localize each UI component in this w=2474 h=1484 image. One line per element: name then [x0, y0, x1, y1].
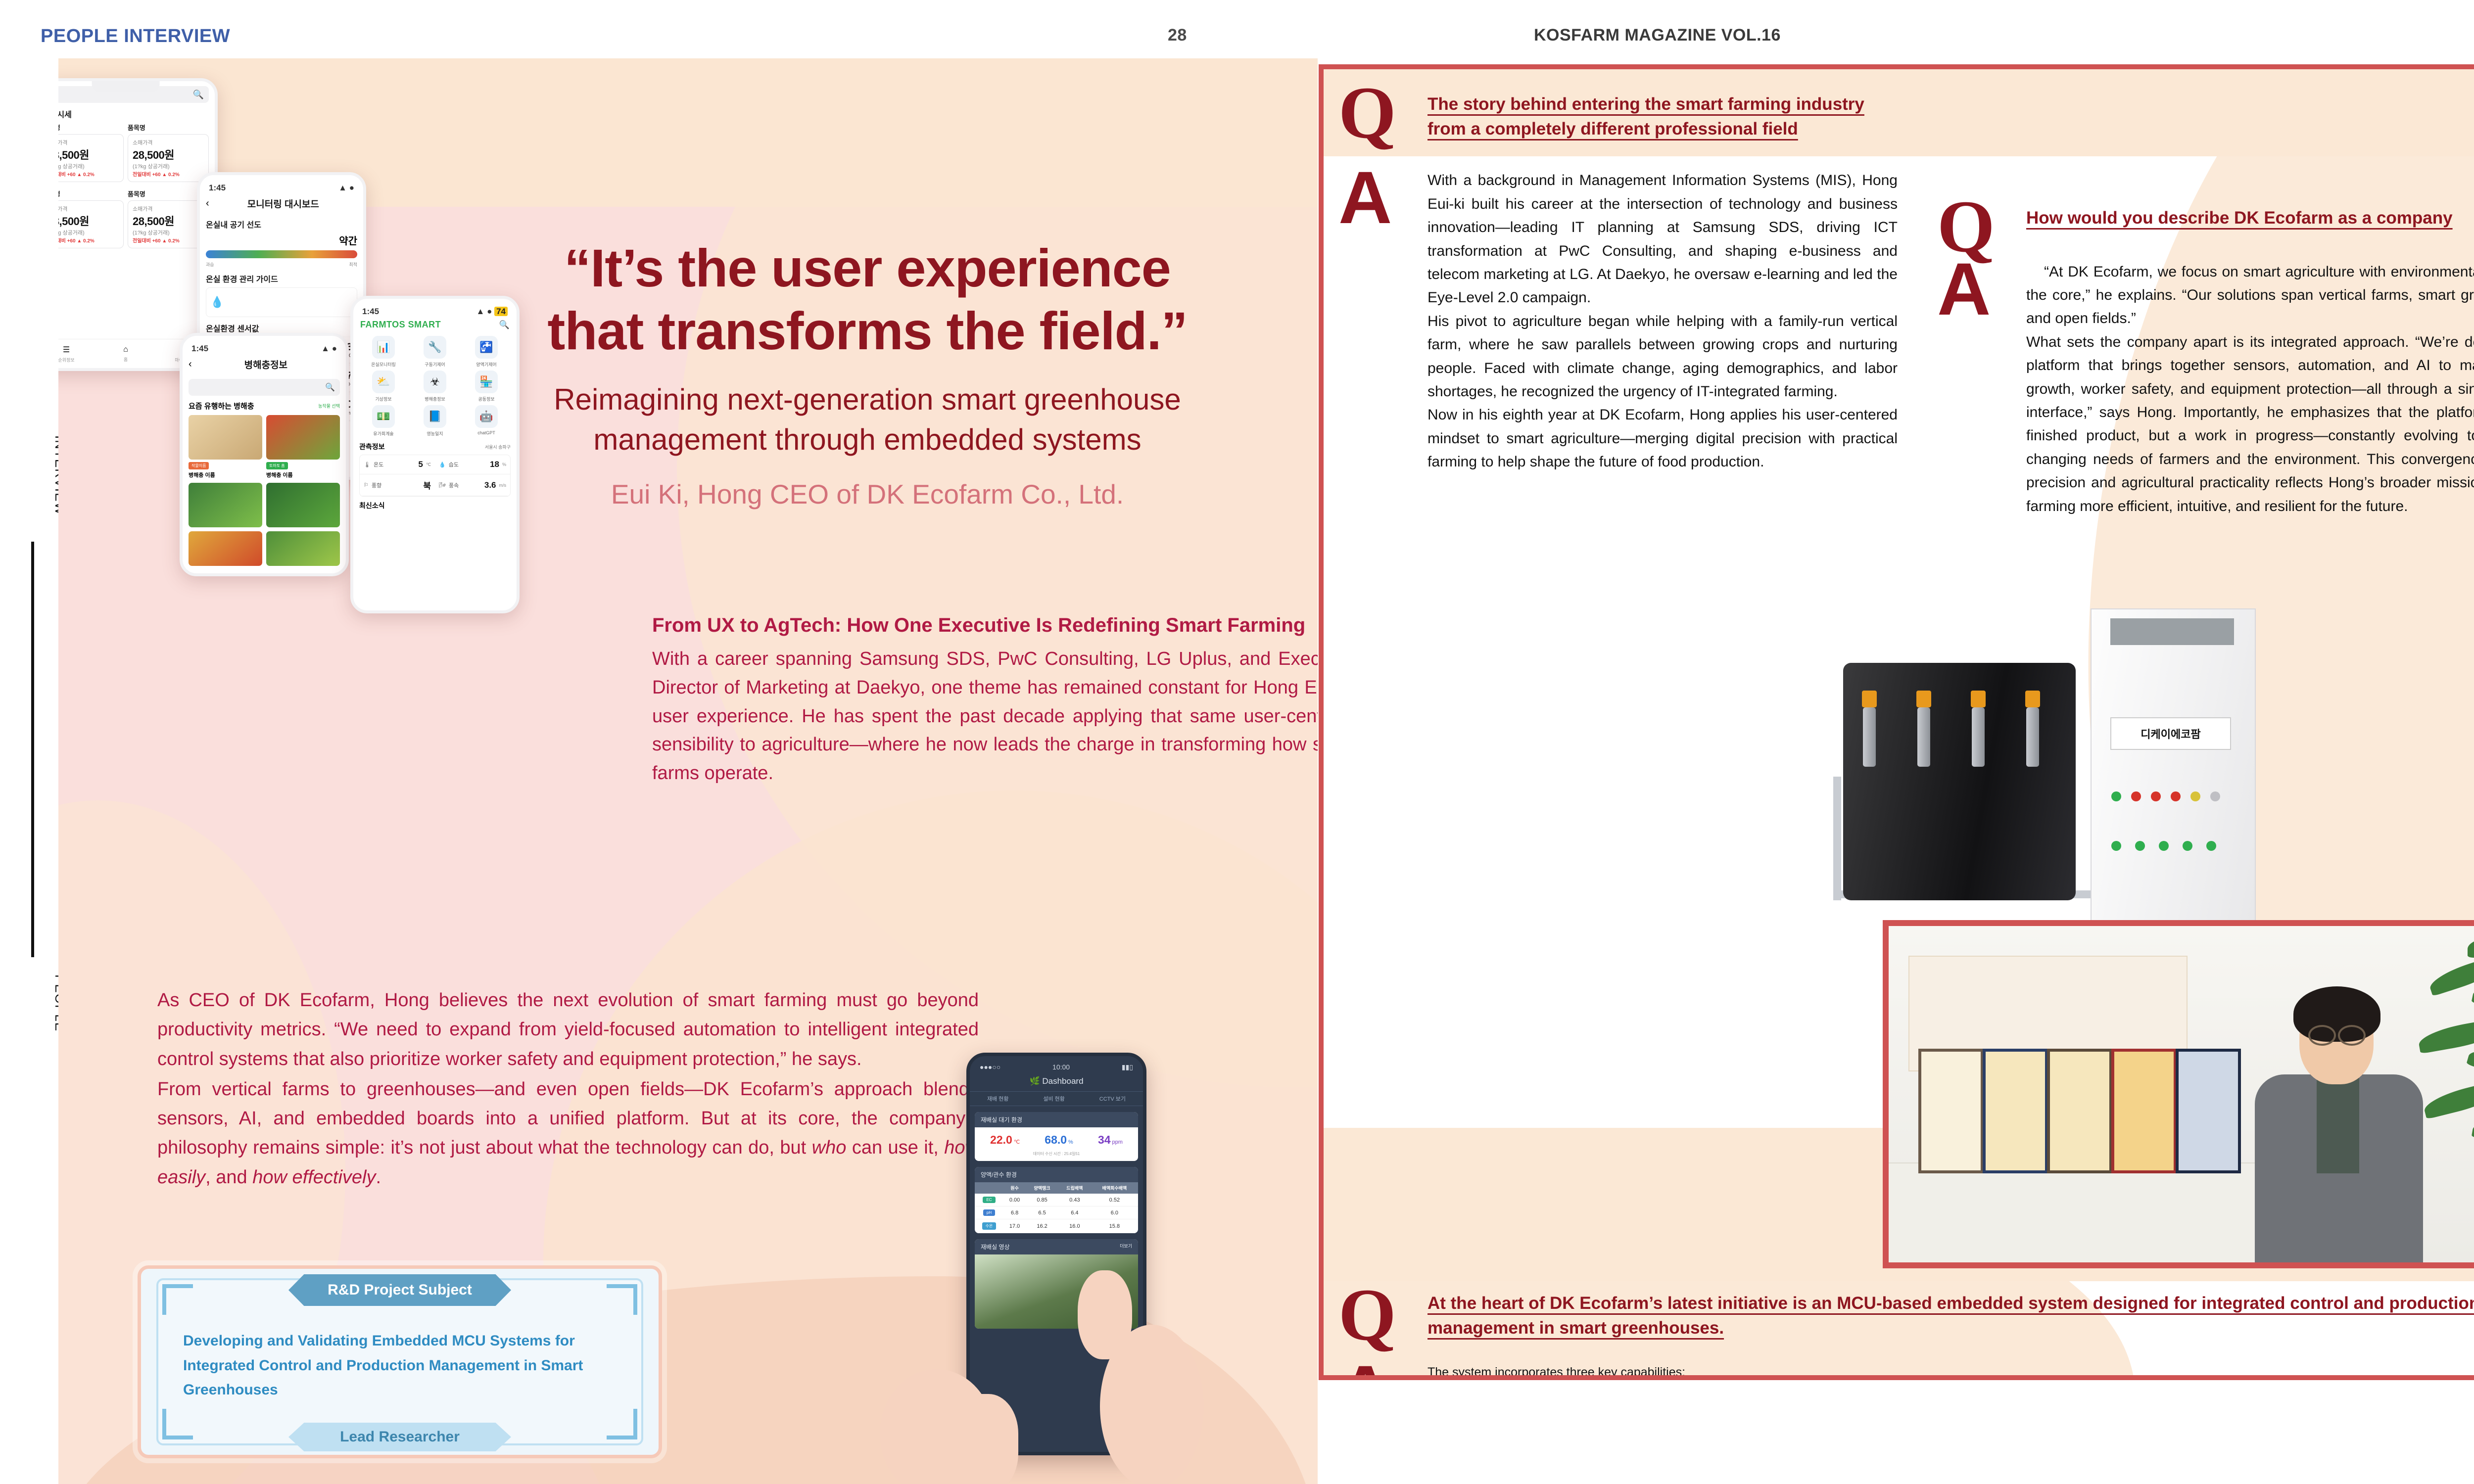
nutrient-table: 원수 양액탱크 드립배액 배액회수배액 EC 0.00 0.85 0.43 0.…	[975, 1182, 1138, 1233]
price-value: 28,500원	[58, 213, 119, 229]
crop-filter[interactable]: 농작물 선택	[318, 403, 340, 409]
phone-status-bar: 1:45 ▲ ●	[200, 175, 363, 194]
phone-mock-pest: 1:45 ▲ ● ‹ 병해충정보 🔍 요즘 유행하는 병해충 농작물 선택 작물…	[180, 333, 349, 576]
frame-post	[1833, 777, 1841, 900]
headline-line-2: that transforms the field.”	[472, 299, 1263, 362]
rnd-project-card: R&D Project Subject Developing and Valid…	[138, 1265, 662, 1458]
phone-mock-auction: 🔍 경매시세 품목명 소매가격 28,500원 (1?kg 상공거래) 전일대비…	[58, 78, 218, 371]
panel-header: 재배실 영상 더보기	[975, 1239, 1138, 1254]
plant-leaf	[2471, 982, 2474, 1019]
menu-item-journal[interactable]: 📘영농일지	[411, 405, 459, 437]
magazine-title: KOSFARM MAGAZINE VOL.16	[1534, 26, 1781, 45]
pest-photo[interactable]	[189, 483, 262, 527]
pest-photo[interactable]	[266, 531, 340, 566]
screen-title: 경매시세	[58, 108, 209, 120]
answer-paragraph: What sets the company apart is its integ…	[2026, 330, 2474, 518]
crop-badge: 작물이름	[189, 462, 209, 469]
a-letter: A	[1937, 260, 1991, 318]
pest-item[interactable]: 토마토 흠 병해충 이름	[266, 415, 340, 479]
price-delta: 전일대비 +60 ▲ 0.2%	[58, 170, 119, 178]
status-time: 1:45	[191, 344, 208, 354]
question-text-2: How would you describe DK Ecofarm as a c…	[2026, 198, 2474, 231]
price-delta: 전일대비 +60 ▲ 0.2%	[58, 236, 119, 244]
more-link[interactable]: 더보기	[1120, 1243, 1132, 1251]
pest-image-row-3	[189, 531, 340, 566]
led-indicator	[2190, 791, 2200, 801]
finger-right	[1078, 1270, 1132, 1359]
status-icons: ▲ ●	[338, 183, 354, 193]
leaf-icon: 🌿	[1029, 1076, 1040, 1086]
air-quality-gauge	[206, 250, 357, 258]
battery-icon: ▮▮▯	[1122, 1063, 1133, 1071]
answer-paragraph: Now in his eighth year at DK Ecofarm, Ho…	[1427, 403, 1898, 473]
price-value: 28,500원	[133, 146, 204, 162]
plant-leaf	[2472, 1117, 2474, 1150]
tab-cultivation[interactable]: 재배 현황	[987, 1095, 1009, 1103]
menu-item-monitoring[interactable]: 📊온실모니터링	[359, 336, 408, 368]
menu-item-pest[interactable]: ☣병해충정보	[411, 371, 459, 402]
led-indicator	[2111, 791, 2121, 801]
table-header-row: 원수 양액탱크 드립배액 배액회수배액	[975, 1182, 1138, 1194]
wind-direction-icon: ⚐	[364, 482, 369, 488]
award-trophy	[2176, 1049, 2241, 1173]
q-letter: Q	[1338, 84, 1396, 142]
rail-label-interview: INTERVIEW	[0, 435, 67, 515]
home-icon: ⌂	[123, 345, 128, 354]
qa-block-1: Q The story behind entering the smart fa…	[1338, 84, 1898, 473]
price-card[interactable]: 소매가격 28,500원 (1?kg 상공거래) 전일대비 +60 ▲ 0.2%	[128, 134, 209, 182]
price-caption: 소매가격	[133, 205, 204, 213]
q-letter: Q	[1338, 1286, 1396, 1344]
monitor-icon: 📊	[372, 336, 395, 359]
guide-card[interactable]: 💧	[206, 287, 357, 317]
running-head-left: PEOPLE INTERVIEW	[41, 26, 230, 47]
metric-temperature: 22.0℃	[990, 1133, 1020, 1147]
table-row: 수온 17.0 16.2 16.0 15.8	[975, 1219, 1138, 1233]
corner-bracket-tr	[607, 1284, 637, 1315]
led-indicator	[2159, 841, 2169, 851]
metric-co2: 34ppm	[1098, 1133, 1123, 1147]
rnd-chip-lead-researcher: Lead Researcher	[288, 1423, 511, 1451]
pest-photo	[266, 415, 340, 460]
pest-image-row-2	[189, 483, 340, 527]
rnd-subject-text: Developing and Validating Embedded MCU S…	[183, 1329, 632, 1402]
menu-item-actuator[interactable]: 🔧구동기제어	[411, 336, 459, 368]
cabinet-display	[2110, 618, 2234, 645]
cabinet-nameplate: 디케이에코팜	[2110, 717, 2231, 750]
price-unit: (1?kg 상공거래)	[133, 162, 204, 170]
price-value: 28,500원	[58, 146, 119, 162]
a-letter: A	[1338, 1363, 1392, 1380]
price-caption: 소매가격	[133, 139, 204, 146]
price-group: 품목명 소매가격 28,500원 (1?kg 상공거래) 전일대비 +60 ▲ …	[58, 123, 124, 182]
pest-photo	[189, 415, 262, 460]
status-time: 1:45	[209, 183, 226, 193]
row-tag: EC	[983, 1197, 995, 1203]
deck-body: With a career spanning Samsung SDS, PwC …	[652, 645, 1318, 788]
pest-photo[interactable]	[266, 483, 340, 527]
ceo-portrait-photo	[1883, 920, 2474, 1268]
question-text-3: At the heart of DK Ecofarm’s latest init…	[1427, 1286, 2474, 1340]
status-time: 10:00	[1052, 1063, 1070, 1071]
price-caption: 소매가격	[58, 139, 119, 146]
tab-ranking[interactable]: ☰순위정보	[58, 339, 96, 368]
lower-paragraph-2: From vertical farms to greenhouses—and e…	[157, 1075, 979, 1192]
row-tag: 수온	[982, 1222, 997, 1230]
weather-icon: ⛅	[372, 371, 395, 393]
person-shirt	[2317, 1074, 2359, 1173]
eyeglasses-left	[2308, 1025, 2336, 1046]
subheadline-line-1: Reimagining next-generation smart greenh…	[472, 379, 1263, 419]
corner-bracket-br	[607, 1409, 637, 1439]
subheadline-line-2: management through embedded systems	[472, 419, 1263, 460]
deck-title: From UX to AgTech: How One Executive Is …	[652, 612, 1318, 638]
section-trending-pests: 요즘 유행하는 병해충	[189, 401, 254, 411]
price-unit: (1?kg 상공거래)	[133, 229, 204, 236]
tab-home[interactable]: ⌂홈	[96, 339, 155, 368]
section-observation: 관측정보	[359, 442, 385, 452]
panel-air-environment: 재배실 대기 환경 22.0℃ 68.0% 34ppm 데이터 수신 시간 : …	[975, 1112, 1138, 1161]
pest-item[interactable]: 작물이름 병해충 이름	[189, 415, 262, 479]
price-delta: 전일대비 +60 ▲ 0.2%	[133, 236, 204, 244]
price-delta: 전일대비 +60 ▲ 0.2%	[133, 170, 204, 178]
table-row: EC 0.00 0.85 0.43 0.52	[975, 1194, 1138, 1206]
gauge-value: 약간	[206, 233, 357, 247]
screen-title: 모니터링 대시보드	[209, 194, 357, 213]
rail-label-people: PEOPLE	[0, 974, 67, 1032]
menu-item-accounting[interactable]: 💵유가회계술	[359, 405, 408, 437]
lower-body-copy: As CEO of DK Ecofarm, Hong believes the …	[157, 986, 979, 1193]
price-group: 품목명 소매가격 28,500원 (1?kg 상공거래) 전일대비 +60 ▲ …	[58, 186, 124, 248]
item-name: 품목명	[58, 189, 124, 198]
valve-cap-2	[1916, 691, 1931, 707]
pest-name: 병해충 이름	[189, 471, 262, 479]
office-plant	[2408, 936, 2474, 1252]
screen-title: 병해충정보	[192, 355, 340, 374]
headline-block: “It’s the user experience that transform…	[472, 236, 1263, 510]
gauge-low-label: 과습	[206, 261, 214, 268]
phone-status-bar: ●●●○○ 10:00 ▮▮▯	[970, 1056, 1143, 1073]
price-unit: (1?kg 상공거래)	[58, 229, 119, 236]
plant-leaf	[2468, 936, 2474, 958]
price-group: 품목명 소매가격 28,500원 (1?kg 상공거래) 전일대비 +60 ▲ …	[128, 123, 209, 182]
lp2-d: .	[376, 1167, 381, 1188]
answer-paragraph: His pivot to agriculture began while hel…	[1427, 310, 1898, 404]
valve-4	[2026, 707, 2039, 767]
lp2-c: , and	[205, 1167, 252, 1188]
search-bar[interactable]: 🔍	[189, 379, 340, 396]
led-indicator	[2151, 791, 2161, 801]
money-icon: 💵	[372, 405, 395, 428]
gauge-mid-label: 최적	[349, 261, 357, 268]
wind-icon: 🌬	[439, 482, 446, 488]
led-indicator	[2183, 841, 2192, 851]
valve-3	[1972, 707, 1985, 767]
left-page: 🔍 경매시세 품목명 소매가격 28,500원 (1?kg 상공거래) 전일대비…	[58, 58, 1318, 1484]
status-icons: ▲ ●	[321, 344, 337, 354]
section-air-quality: 온실내 공기 선도	[206, 218, 357, 230]
phone-status-bar: 1:45 ▲ ●	[183, 336, 346, 355]
menu-item-weather[interactable]: ⛅기상정보	[359, 371, 408, 402]
row-tag: pH	[983, 1209, 995, 1216]
valve-1	[1863, 707, 1876, 767]
price-card-grid: 품목명 소매가격 28,500원 (1?kg 상공거래) 전일대비 +60 ▲ …	[58, 123, 209, 248]
lp2-b: can use it,	[846, 1137, 944, 1158]
right-page: Q The story behind entering the smart fa…	[1319, 64, 2474, 1380]
lp2-em-who: who	[812, 1137, 847, 1158]
pest-name: 병해충 이름	[266, 471, 340, 479]
rnd-chip-subject: R&D Project Subject	[288, 1274, 511, 1306]
book-icon: 📘	[424, 405, 446, 428]
section-guide: 온실 환경 관리 가이드	[206, 273, 357, 284]
obs-temperature: 🌡온도5℃	[360, 455, 435, 474]
metrics-row: 22.0℃ 68.0% 34ppm	[975, 1127, 1138, 1150]
rail-divider	[31, 542, 34, 957]
pest-image-row: 작물이름 병해충 이름 토마토 흠 병해충 이름	[189, 415, 340, 479]
answer-text-1: With a background in Management Informat…	[1427, 169, 1898, 473]
plant-leaf	[2466, 1043, 2474, 1087]
answer-intro: The system incorporates three key capabi…	[1427, 1363, 2474, 1380]
price-unit: (1?kg 상공거래)	[58, 162, 119, 170]
led-indicator	[2135, 841, 2145, 851]
dashboard-tabs[interactable]: 재배 현황 설비 현황 CCTV 보기	[970, 1091, 1143, 1106]
answer-text-2: “At DK Ecofarm, we focus on smart agricu…	[2026, 260, 2474, 518]
obs-wind-direction: ⚐풍향북	[360, 474, 435, 496]
price-value: 28,500원	[133, 213, 204, 229]
award-plaque	[1918, 1049, 1984, 1173]
lower-paragraph-1: As CEO of DK Ecofarm, Hong believes the …	[157, 986, 979, 1074]
humidity-icon: 💧	[439, 462, 446, 468]
plant-leaf	[2417, 1018, 2474, 1054]
metric-humidity: 68.0%	[1045, 1133, 1073, 1147]
award-plaque	[1983, 1049, 2048, 1173]
subheadline: Reimagining next-generation smart greenh…	[472, 379, 1263, 460]
valve-cap-3	[1971, 691, 1986, 707]
person-hair	[2293, 986, 2380, 1042]
led-indicator	[2131, 791, 2141, 801]
answer-text-3: The system incorporates three key capabi…	[1427, 1363, 2474, 1380]
item-name: 품목명	[58, 123, 124, 132]
valve-cap-4	[2025, 691, 2040, 707]
back-icon[interactable]: ‹	[189, 359, 192, 370]
crop-badge: 토마토 흠	[266, 462, 288, 469]
tab-equipment[interactable]: 설비 현황	[1043, 1095, 1065, 1103]
signal-icon: ●●●○○	[980, 1063, 1000, 1071]
led-indicator	[2111, 841, 2121, 851]
watering-icon: 💧	[210, 296, 224, 309]
panel-header: 양액/관수 환경	[975, 1167, 1138, 1182]
thermometer-icon: 🌡	[364, 462, 371, 468]
magazine-spread: PEOPLE INTERVIEW 28 KOSFARM MAGAZINE VOL…	[0, 0, 2474, 1484]
corner-bracket-tl	[162, 1284, 193, 1315]
led-indicator	[2206, 841, 2216, 851]
measured-time: 데이터 수신 시간 : 25:4일51	[975, 1150, 1138, 1161]
byline: Eui Ki, Hong CEO of DK Ecofarm Co., Ltd.	[472, 478, 1263, 510]
back-icon[interactable]: ‹	[206, 198, 209, 209]
valve-cap-1	[1862, 691, 1877, 707]
section-rail: INTERVIEW PEOPLE	[18, 435, 48, 1068]
panel-header: 재배실 대기 환경	[975, 1112, 1138, 1127]
wrench-icon: 🔧	[424, 336, 446, 359]
search-icon: 🔍	[193, 90, 204, 100]
answer-paragraph: “At DK Ecofarm, we focus on smart agricu…	[2026, 260, 2474, 330]
price-caption: 소매가격	[58, 205, 119, 213]
award-plaque	[2047, 1049, 2112, 1173]
plant-leaf	[2426, 955, 2474, 996]
phone-notch	[92, 81, 160, 92]
qa-block-2: Q How would you describe DK Ecofarm as a…	[1937, 198, 2474, 518]
deck-block: From UX to AgTech: How One Executive Is …	[652, 612, 1318, 788]
valve-2	[1917, 707, 1930, 767]
led-indicator	[2210, 791, 2220, 801]
table-row: pH 6.8 6.5 6.4 6.0	[975, 1206, 1138, 1219]
dashboard-title: 🌿 Dashboard	[970, 1073, 1143, 1091]
virus-icon: ☣	[424, 371, 446, 393]
panel-nutrient-irrigation: 양액/관수 환경 원수 양액탱크 드립배액 배액회수배액 EC 0.00 0.8…	[975, 1167, 1138, 1233]
filter-tank	[1843, 663, 2076, 900]
page-number-left: 28	[1168, 26, 1187, 45]
status-time: 1:45	[362, 307, 379, 317]
menu-icon: ☰	[63, 345, 70, 355]
price-card[interactable]: 소매가격 28,500원 (1?kg 상공거래) 전일대비 +60 ▲ 0.2%	[58, 200, 124, 248]
pest-photo[interactable]	[189, 531, 262, 566]
tab-cctv[interactable]: CCTV 보기	[1099, 1095, 1126, 1103]
qa-block-3: Q At the heart of DK Ecofarm’s latest in…	[1338, 1286, 2474, 1380]
item-name: 품목명	[128, 123, 209, 132]
a-letter: A	[1338, 169, 1392, 227]
led-indicator	[2171, 791, 2181, 801]
thumb-left	[944, 1394, 1018, 1484]
price-card[interactable]: 소매가격 28,500원 (1?kg 상공거래) 전일대비 +60 ▲ 0.2%	[58, 134, 124, 182]
headline-line-1: “It’s the user experience	[472, 236, 1263, 299]
lp2-em-howeffectively: how effectively	[252, 1167, 376, 1188]
section-sensor-values: 온실환경 센서값	[206, 322, 357, 334]
corner-bracket-bl	[162, 1409, 193, 1439]
app-brand: FARMTOS SMART	[360, 320, 441, 330]
plant-leaf	[2422, 1080, 2474, 1119]
award-plaque	[2111, 1049, 2177, 1173]
eyeglasses-right	[2338, 1025, 2366, 1046]
search-icon: 🔍	[325, 382, 335, 392]
answer-paragraph: With a background in Management Informat…	[1427, 169, 1898, 309]
question-text-1: The story behind entering the smart farm…	[1427, 84, 1898, 141]
